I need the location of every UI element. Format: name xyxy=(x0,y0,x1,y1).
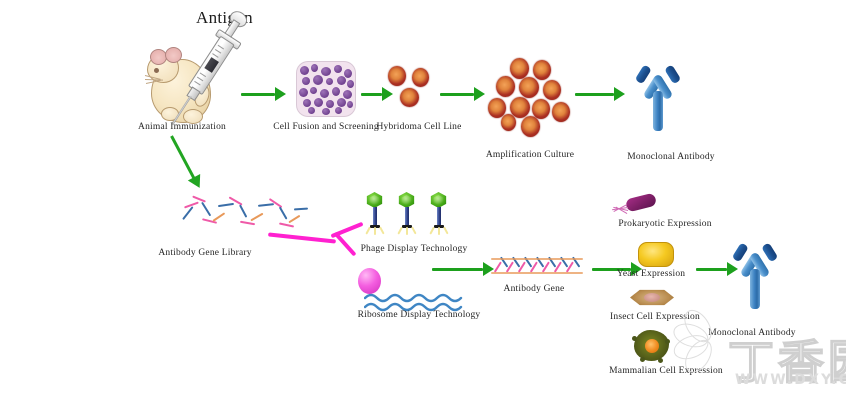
step-label-ribosome-display: Ribosome Display Technology xyxy=(358,310,481,320)
arrow-amplification-to-antibody xyxy=(575,87,625,101)
step-label-amplification: Amplification Culture xyxy=(486,150,574,160)
expression-label-prokaryotic: Prokaryotic Expression xyxy=(618,219,711,229)
arrow-display-to-gene xyxy=(432,262,494,276)
insect-cell-icon xyxy=(630,288,674,307)
dna-helix-icon xyxy=(492,255,588,277)
step-label-antibody-gene: Antibody Gene xyxy=(504,284,565,294)
watermark: 丁香园 WWW.DXY.CN xyxy=(0,0,846,400)
arrow-immunization-to-fusion xyxy=(241,87,286,101)
arrow-hybridoma-to-amplification xyxy=(440,87,485,101)
dna-library-icon xyxy=(178,186,310,236)
expression-label-yeast: Yeast Expression xyxy=(617,269,685,279)
step-label-monoclonal-antibody-bottom: Monoclonal Antibody xyxy=(708,328,795,338)
diagram-canvas: Antigen Animal Immunization xyxy=(0,0,846,400)
arrow-fusion-to-hybridoma xyxy=(361,87,393,101)
micrograph-panel-icon xyxy=(297,62,355,116)
arrow-expression-to-antibody xyxy=(696,262,738,276)
expression-label-mammalian: Mammalian Cell Expression xyxy=(609,366,723,376)
step-label-monoclonal-antibody-top: Monoclonal Antibody xyxy=(627,152,714,162)
arrow-immunization-to-gene-library xyxy=(170,135,196,181)
step-label-phage-display: Phage Display Technology xyxy=(361,244,468,254)
step-label-antibody-gene-library: Antibody Gene Library xyxy=(158,248,251,258)
expression-label-insect: Insect Cell Expression xyxy=(610,312,700,322)
step-label-animal-immunization: Animal Immunization xyxy=(138,122,226,132)
step-label-hybridoma: Hybridoma Cell Line xyxy=(376,122,461,132)
splitter-branch-lower xyxy=(333,232,356,257)
watermark-url-text: WWW.DXY.CN xyxy=(735,372,846,388)
step-label-cell-fusion: Cell Fusion and Screening xyxy=(273,122,379,132)
yeast-cell-icon xyxy=(638,242,674,267)
